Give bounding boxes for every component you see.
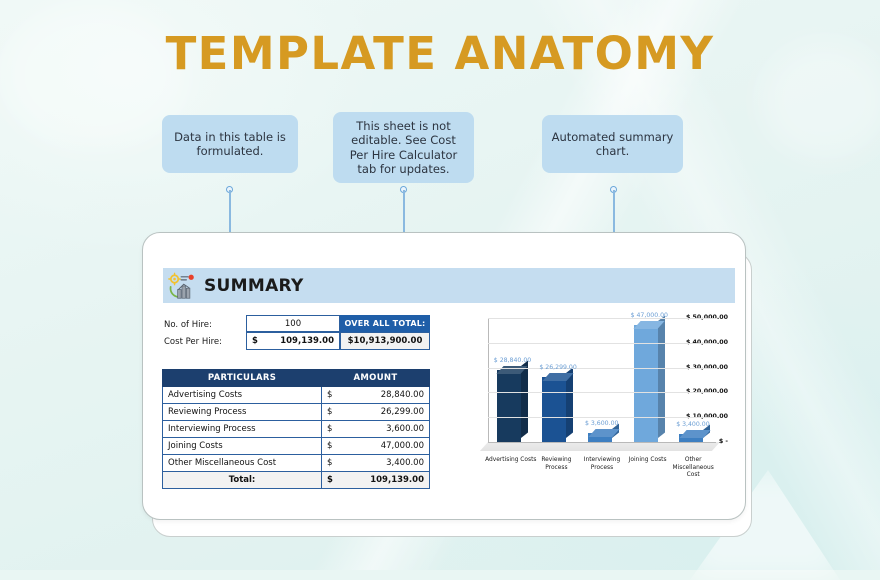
label-cost-per-hire: Cost Per Hire: <box>164 337 222 347</box>
callout-text: Data in this table is formulated. <box>170 130 290 159</box>
bar-side <box>521 361 528 438</box>
y-axis-tick-label: $ - <box>682 438 728 445</box>
bar-data-label: $ 3,400.00 <box>676 421 709 428</box>
bar-face <box>497 370 521 442</box>
label-no-of-hire: No. of Hire: <box>164 320 212 330</box>
total-value: 109,139.00 <box>370 475 424 485</box>
x-axis-category-label: Other Miscellaneous Cost <box>666 457 720 480</box>
cell-particular: Other Miscellaneous Cost <box>163 455 322 472</box>
cell-amount: $3,400.00 <box>322 455 430 472</box>
amount-value: 47,000.00 <box>381 441 424 451</box>
cell-amount: $3,600.00 <box>322 421 430 438</box>
callout-text: Automated summary chart. <box>550 130 675 159</box>
callout-text: This sheet is not editable. See Cost Per… <box>341 119 466 177</box>
analytics-gear-icon <box>168 272 196 300</box>
cell-particular: Interviewing Process <box>163 421 322 438</box>
cost-per-hire-amount: 109,139.00 <box>280 336 334 346</box>
table-row: Interviewing Process$3,600.00 <box>163 421 430 438</box>
currency-symbol: $ <box>327 407 332 417</box>
cell-amount: $28,840.00 <box>322 387 430 404</box>
chart-gridline <box>488 318 716 319</box>
callout-automated-chart: Automated summary chart. <box>542 115 683 173</box>
callout-not-editable: This sheet is not editable. See Cost Per… <box>333 112 474 183</box>
summary-header-band: SUMMARY <box>163 268 735 303</box>
cell-amount: $47,000.00 <box>322 438 430 455</box>
chart-y-axis <box>488 318 489 442</box>
total-label: Total: <box>163 472 322 489</box>
chart-bar[interactable] <box>588 433 612 442</box>
table-row: Joining Costs$47,000.00 <box>163 438 430 455</box>
currency-symbol: $ <box>252 336 258 346</box>
bar-side <box>658 316 665 438</box>
summary-title: SUMMARY <box>204 276 304 296</box>
currency-symbol: $ <box>327 424 332 434</box>
amount-value: 3,400.00 <box>386 458 424 468</box>
bar-data-label: $ 26,299.00 <box>539 364 576 371</box>
summary-bar-chart: $ 50,000.00$ 40,000.00$ 30,000.00$ 20,00… <box>438 318 728 490</box>
bar-face <box>542 377 566 442</box>
chart-bar[interactable] <box>542 377 566 442</box>
currency-symbol: $ <box>327 441 332 451</box>
table-header-row: PARTICULARS AMOUNT <box>163 370 430 387</box>
chart-gridline <box>488 368 716 369</box>
bar-data-label: $ 3,600.00 <box>585 420 618 427</box>
currency-symbol: $ <box>327 458 332 468</box>
bar-data-label: $ 47,000.00 <box>631 312 668 319</box>
cell-particular: Reviewing Process <box>163 404 322 421</box>
amount-value: 26,299.00 <box>381 407 424 417</box>
table-row: Advertising Costs$28,840.00 <box>163 387 430 404</box>
cell-no-of-hire-value[interactable]: 100 <box>246 315 340 332</box>
total-amount: $109,139.00 <box>322 472 430 489</box>
chart-gridline <box>488 417 716 418</box>
cell-overall-total-value: $10,913,900.00 <box>340 332 430 350</box>
chart-gridline <box>488 392 716 393</box>
cell-overall-total-label: OVER ALL TOTAL: <box>340 315 430 332</box>
table-row: Reviewing Process$26,299.00 <box>163 404 430 421</box>
page-title: TEMPLATE ANATOMY <box>0 27 880 80</box>
table-row: Other Miscellaneous Cost$3,400.00 <box>163 455 430 472</box>
chart-gridline <box>488 343 716 344</box>
column-header-amount: AMOUNT <box>322 370 430 387</box>
particulars-table: PARTICULARS AMOUNT Advertising Costs$28,… <box>162 369 430 489</box>
callout-data-formulated: Data in this table is formulated. <box>162 115 298 173</box>
column-header-particulars: PARTICULARS <box>163 370 322 387</box>
cell-cost-per-hire-value[interactable]: $ 109,139.00 <box>246 332 340 350</box>
amount-value: 28,840.00 <box>381 390 424 400</box>
currency-symbol: $ <box>327 390 332 400</box>
currency-symbol: $ <box>327 475 333 485</box>
cell-particular: Joining Costs <box>163 438 322 455</box>
cell-amount: $26,299.00 <box>322 404 430 421</box>
amount-value: 3,600.00 <box>386 424 424 434</box>
chart-bar[interactable] <box>497 370 521 442</box>
bar-data-label: $ 28,840.00 <box>494 357 531 364</box>
cell-particular: Advertising Costs <box>163 387 322 404</box>
table-total-row: Total:$109,139.00 <box>163 472 430 489</box>
